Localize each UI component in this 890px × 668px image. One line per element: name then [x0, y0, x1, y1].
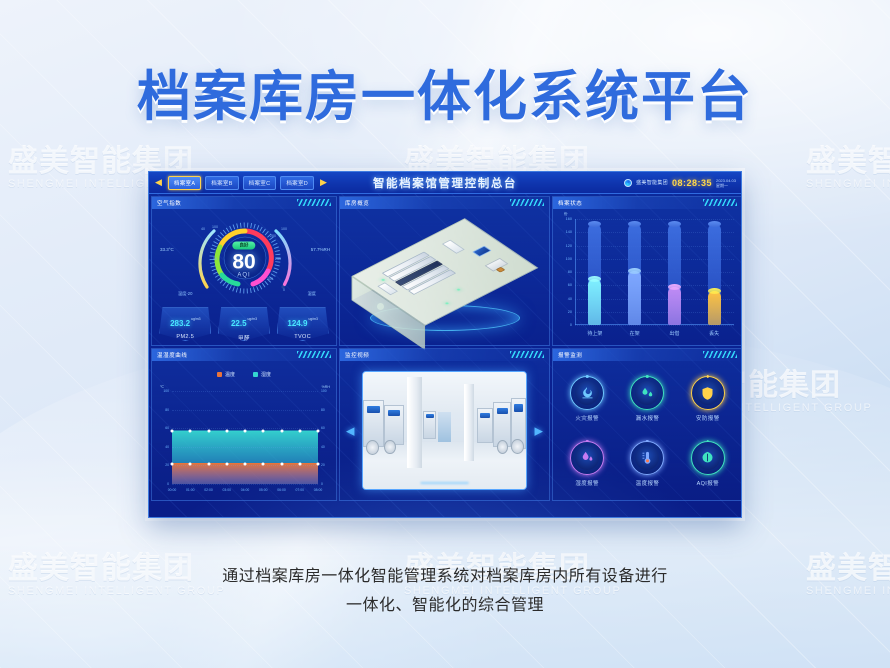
grid-line [172, 465, 318, 466]
metric-label: TVOC [278, 334, 328, 340]
y-tick-label: 80 [568, 270, 572, 274]
temperature-caption: 温度-20 [178, 291, 192, 297]
aqi-gauge: 100 200 250 300 50 0 40 100 0 良好 80 AQI … [152, 209, 336, 307]
panel-title: 空气指数 [152, 199, 181, 207]
y-tick-label-right: 20 [321, 463, 325, 467]
room-3d-stage[interactable] [340, 209, 549, 345]
legend-swatch [217, 372, 222, 377]
data-point [189, 462, 192, 465]
video-next-arrow-icon[interactable]: ▶ [535, 424, 543, 437]
date-block: 2023.04.03 星期一 [716, 178, 736, 188]
metric-label: PM2.5 [160, 334, 210, 340]
panel-title: 库房概览 [340, 199, 369, 207]
alarm-item[interactable]: 湿度报警 [570, 441, 604, 487]
caption-line-1: 通过档案库房一体化智能管理系统对档案库房内所有设备进行 [0, 562, 890, 591]
metric-value: 124.9 [287, 319, 307, 328]
panel-title-bar: 空气指数 [152, 197, 336, 209]
left-scale-top: 40 [201, 227, 205, 231]
bar-chart: 份 020406080100120140160 待上架在架出借丢失 [553, 209, 742, 345]
brand-name: 盛美智能集团 [636, 179, 668, 186]
brand-logo-icon [624, 179, 632, 187]
x-tick-label: 08:00 [314, 488, 323, 492]
panel-title-bar: 报警监测 [553, 349, 742, 361]
x-tick-label: 04:00 [241, 488, 250, 492]
x-tick-label: 01:00 [186, 488, 195, 492]
y-tick-label: 100 [566, 257, 572, 261]
dial-tick: 200 [270, 234, 276, 238]
dial-tick: 250 [275, 257, 281, 261]
metric-unit: ug/m3 [191, 317, 200, 321]
area-series-svg [172, 391, 318, 484]
alarm-indicator [570, 441, 604, 475]
panel-body: 火灾报警漏水报警安防报警湿度报警温度报警AQI报警 [553, 361, 742, 500]
alarm-label: 温度报警 [630, 479, 664, 487]
humidity-caption: 湿度 [308, 291, 316, 297]
bar-column[interactable]: 待上架 [588, 219, 601, 325]
date-text: 2023.04.03 [716, 178, 736, 183]
panel-body: 温度 湿度 ℃ %RH [152, 361, 336, 500]
y-tick-label-right: 40 [321, 445, 325, 449]
panel-title: 报警监测 [553, 351, 582, 359]
data-point [280, 429, 283, 432]
x-tick-label: 07:00 [296, 488, 305, 492]
alarm-status-dot [586, 375, 589, 378]
grid-line [575, 325, 734, 326]
grid-line [172, 391, 318, 392]
area-plot-area: 00:0001:0002:0003:0004:0005:0006:0007:00… [172, 391, 318, 484]
panel-body: 份 020406080100120140160 待上架在架出借丢失 [553, 209, 742, 345]
metric-card-tvoc[interactable]: 124.9ug/m3 TVOC [277, 307, 329, 341]
alarm-status-dot [586, 440, 589, 443]
data-point [262, 429, 265, 432]
data-point [317, 429, 320, 432]
panel-video-monitor: 监控视频 ◀ ▶ [339, 348, 550, 501]
alarm-indicator [691, 441, 725, 475]
metric-value: 283.2 [170, 319, 190, 328]
video-cabinet [423, 411, 436, 439]
chart-legend: 温度 湿度 [152, 371, 336, 378]
video-corridor [438, 412, 451, 442]
clock: 08:28:35 [672, 178, 712, 188]
alarm-item[interactable]: 温度报警 [630, 441, 664, 487]
x-tick-label: 00:00 [168, 488, 177, 492]
bar-plot-area: 020406080100120140160 待上架在架出借丢失 [575, 219, 734, 325]
title-deco-icon [510, 199, 544, 206]
floor-reflection [420, 482, 469, 484]
right-scale-bottom: 0 [283, 288, 285, 292]
bar-value [668, 287, 681, 325]
alarm-item[interactable]: AQI报警 [691, 441, 725, 487]
panel-title-bar: 温湿度曲线 [152, 349, 336, 361]
page-caption: 通过档案库房一体化智能管理系统对档案库房内所有设备进行 一体化、智能化的综合管理 [0, 562, 890, 620]
bar-series: 待上架在架出借丢失 [575, 219, 734, 325]
y-tick-label-right: 60 [321, 426, 325, 430]
humidity-icon [580, 450, 595, 465]
alarm-item[interactable]: 火灾报警 [570, 376, 604, 422]
panel-title-bar: 档案状态 [553, 197, 742, 209]
alarm-label: 漏水报警 [630, 414, 664, 422]
panel-title: 温湿度曲线 [152, 351, 188, 359]
temp-icon [640, 450, 655, 465]
dial-tick: 0 [221, 278, 223, 282]
bar-column[interactable]: 出借 [668, 219, 681, 325]
video-pillar [464, 384, 474, 461]
data-point [280, 462, 283, 465]
alarm-label: AQI报警 [691, 479, 725, 487]
data-point [225, 429, 228, 432]
panel-title-bar: 监控视频 [340, 349, 549, 361]
legend-swatch [253, 372, 258, 377]
legend-item-temperature[interactable]: 温度 [217, 371, 235, 378]
y-tick-label-right: 0 [321, 482, 323, 486]
panel-temp-humidity-curve: 温湿度曲线 温度 湿度 ℃ %RH [151, 348, 337, 501]
aqi-readout: 良好 80 AQI [232, 234, 255, 279]
title-deco-icon [297, 351, 331, 358]
video-cabinet [384, 405, 404, 445]
y-tick-label-right: 80 [321, 408, 325, 412]
y-tick-label: 40 [568, 297, 572, 301]
video-cabinet [477, 408, 493, 443]
y-tick-label-left: 40 [165, 445, 169, 449]
panel-alarm-monitor: 报警监测 火灾报警漏水报警安防报警湿度报警温度报警AQI报警 [552, 348, 742, 501]
y-tick-label-left: 60 [165, 426, 169, 430]
panel-archive-status: 档案状态 份 020406080100120140160 待上架在架出借丢失 [552, 196, 742, 346]
video-prev-arrow-icon[interactable]: ◀ [346, 424, 354, 437]
y-tick-label: 160 [566, 217, 572, 221]
y-tick-label-left: 80 [165, 408, 169, 412]
alarm-status-dot [646, 375, 649, 378]
y-tick-label: 140 [566, 230, 572, 234]
y-tick-label-right: 100 [321, 389, 327, 393]
data-point [171, 429, 174, 432]
legend-label: 温度 [225, 371, 235, 378]
title-deco-icon [297, 199, 331, 206]
data-point [317, 462, 320, 465]
grid-line [172, 447, 318, 448]
panel-title: 档案状态 [553, 199, 582, 207]
data-point [225, 462, 228, 465]
data-point [207, 429, 210, 432]
temperature-value: 33.3°C [160, 247, 174, 252]
alarm-indicator [570, 376, 604, 410]
bar-value [708, 291, 721, 325]
x-tick-label: 在架 [630, 330, 640, 337]
metric-value: 22.5 [231, 319, 247, 328]
metric-label: 甲醛 [219, 334, 269, 342]
alarm-label: 火灾报警 [570, 414, 604, 422]
panel-air-quality: 空气指数 [151, 196, 337, 346]
weekday-text: 星期一 [716, 183, 736, 188]
title-deco-icon [703, 199, 737, 206]
video-feed[interactable] [362, 371, 527, 490]
data-point [298, 429, 301, 432]
caption-line-2: 一体化、智能化的综合管理 [0, 591, 890, 620]
metric-unit: ug/m3 [248, 317, 257, 321]
alarm-status-dot [707, 375, 710, 378]
y-tick-label-left: 0 [167, 482, 169, 486]
title-deco-icon [703, 351, 737, 358]
x-tick-label: 03:00 [223, 488, 232, 492]
y-tick-label: 20 [568, 310, 572, 314]
cabinet-fan-icon [497, 440, 508, 454]
water-icon [640, 386, 655, 401]
bar-column[interactable]: 在架 [628, 219, 641, 325]
watermark-cn: 盛美智能集团 [806, 146, 890, 178]
alarm-indicator [691, 376, 725, 410]
panel-grid: 空气指数 [149, 194, 741, 503]
data-point [207, 462, 210, 465]
panel-body: ◀ ▶ [340, 361, 549, 500]
x-tick-label: 06:00 [277, 488, 286, 492]
alarm-label: 安防报警 [691, 414, 725, 422]
data-point [298, 462, 301, 465]
y-tick-label: 120 [566, 244, 572, 248]
dial-tick: 300 [267, 277, 273, 281]
alarm-grid: 火灾报警漏水报警安防报警湿度报警温度报警AQI报警 [553, 361, 742, 500]
title-deco-icon [510, 351, 544, 358]
x-tick-label: 丢失 [709, 330, 719, 337]
right-scale-top: 100 [281, 227, 287, 231]
watermark: 盛美智能集团 SHENGMEI INTELLIGENT GROUP [806, 146, 890, 190]
data-point [244, 462, 247, 465]
alarm-status-dot [707, 440, 710, 443]
aqi-value: 80 [232, 252, 255, 273]
y-tick-label: 0 [570, 323, 572, 327]
metric-card-pm25[interactable]: 283.2ug/m3 PM2.5 [159, 307, 211, 341]
dial-tick: 100 [212, 225, 218, 229]
header-right: 盛美智能集团 08:28:35 2023.04.03 星期一 [624, 178, 741, 188]
alarm-label: 湿度报警 [570, 479, 604, 487]
data-point [262, 462, 265, 465]
panel-body: 100 200 250 300 50 0 40 100 0 良好 80 AQI … [152, 209, 336, 345]
y-tick-label-left: 20 [165, 463, 169, 467]
metric-unit: ug/m3 [308, 317, 317, 321]
dashboard-window: ◀ 档案室A 档案室B 档案室C 档案室D ▶ 智能档案馆管理控制总台 盛美智能… [148, 171, 742, 518]
grid-line [172, 484, 318, 485]
dashboard-header: ◀ 档案室A 档案室B 档案室C 档案室D ▶ 智能档案馆管理控制总台 盛美智能… [149, 172, 741, 194]
data-point [171, 462, 174, 465]
alarm-item[interactable]: 安防报警 [691, 376, 725, 422]
data-point [189, 429, 192, 432]
room-3d-model [351, 218, 538, 326]
aqi-status-badge: 良好 [232, 242, 255, 250]
x-tick-label: 出借 [669, 330, 679, 337]
data-point [244, 429, 247, 432]
panel-title-bar: 库房概览 [340, 197, 549, 209]
watermark-en: SHENGMEI INTELLIGENT GROUP [806, 178, 890, 190]
shield-icon [700, 386, 715, 401]
alarm-indicator [630, 376, 664, 410]
legend-item-humidity[interactable]: 湿度 [253, 371, 271, 378]
cabinet-fan-icon [384, 440, 395, 454]
panel-room-overview: 库房概览 [339, 196, 550, 346]
dial-tick: 50 [213, 257, 217, 261]
bar-value [588, 279, 601, 325]
x-tick-label: 待上架 [587, 330, 602, 337]
panel-title: 监控视频 [340, 351, 369, 359]
alarm-status-dot [646, 440, 649, 443]
legend-label: 湿度 [261, 371, 271, 378]
leaf-icon [700, 450, 715, 465]
y-tick-label-left: 100 [163, 389, 169, 393]
fire-icon [580, 386, 595, 401]
alarm-indicator [630, 441, 664, 475]
metric-card-formaldehyde[interactable]: 22.5ug/m3 甲醛 [218, 307, 270, 341]
alarm-item[interactable]: 漏水报警 [630, 376, 664, 422]
y-tick-label: 60 [568, 283, 572, 287]
x-tick-label: 05:00 [259, 488, 268, 492]
air-metric-cards: 283.2ug/m3 PM2.5 22.5ug/m3 甲醛 124.9ug/m3… [152, 307, 336, 341]
bar-column[interactable]: 丢失 [708, 219, 721, 325]
humidity-value: 57.7%RH [311, 247, 330, 252]
x-tick-label: 02:00 [204, 488, 213, 492]
video-pillar [407, 377, 422, 468]
page-title: 档案库房一体化系统平台 [0, 52, 890, 131]
panel-body [340, 209, 549, 345]
bar-value [628, 271, 641, 325]
grid-line [172, 410, 318, 411]
